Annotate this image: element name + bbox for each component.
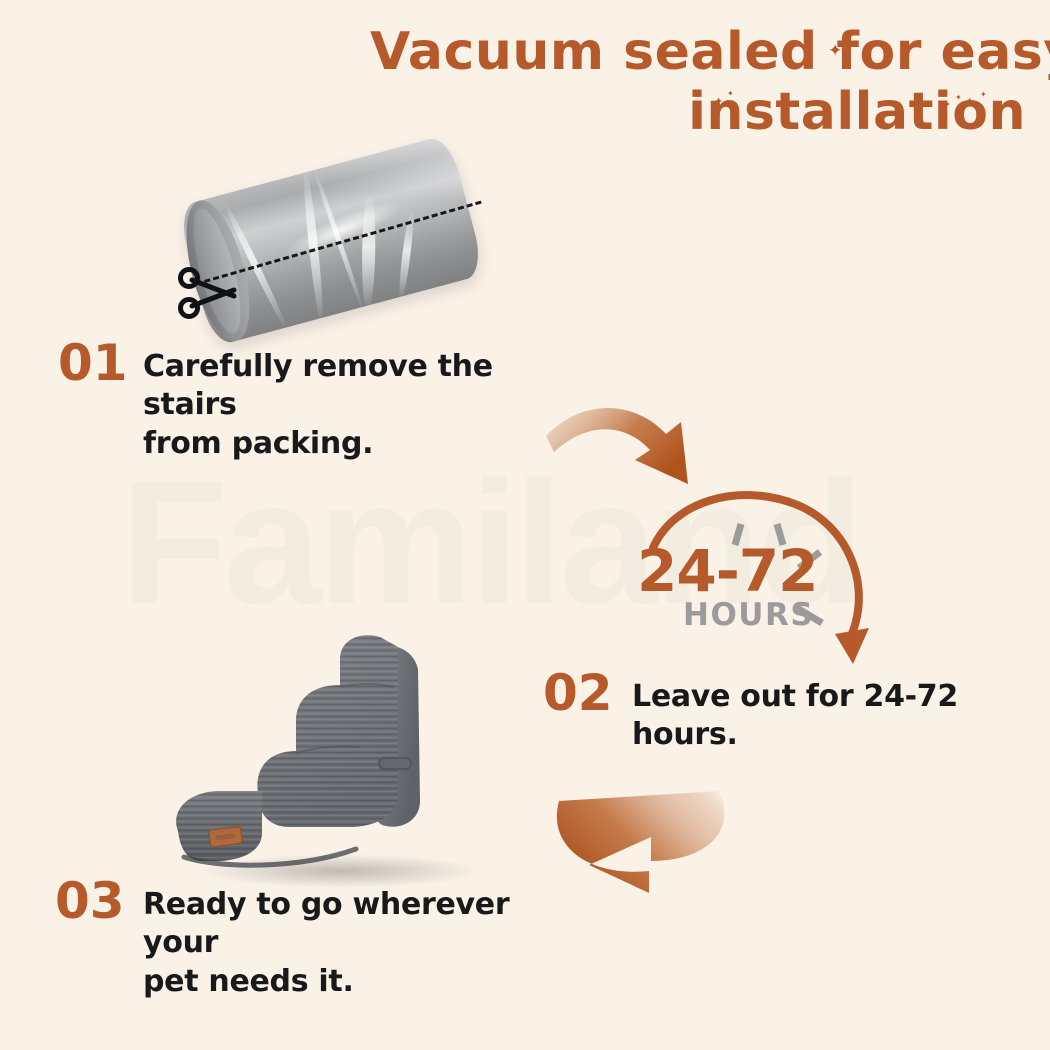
product-shadow xyxy=(200,854,480,888)
page-title: Vacuum sealed for easy installation xyxy=(370,22,1030,143)
clock-unit-label: HOURS xyxy=(683,600,814,631)
step-number-02: 02 xyxy=(543,668,613,718)
step-text-01-line1: Carefully remove the stairs xyxy=(143,348,583,425)
pet-stairs-illustration xyxy=(150,625,510,890)
step-text-02-line1: Leave out for 24-72 hours. xyxy=(632,678,1050,755)
sparkle-icon: ✦ xyxy=(965,97,974,108)
sparkle-icon: ✦ xyxy=(980,91,987,99)
step-text-03: Ready to go wherever your pet needs it. xyxy=(143,886,583,1001)
step-number-01: 01 xyxy=(58,338,128,388)
step-number-03: 03 xyxy=(55,876,125,926)
sparkle-icon: ✦ xyxy=(714,97,723,108)
step-text-02: Leave out for 24-72 hours. xyxy=(632,678,1050,755)
sparkle-icon: ✦ xyxy=(727,90,734,98)
step-text-01: Carefully remove the stairs from packing… xyxy=(143,348,583,463)
step-text-03-line1: Ready to go wherever your xyxy=(143,886,583,963)
sparkle-icon: ✦ xyxy=(828,42,842,59)
sparkle-icon: ✦ xyxy=(844,36,851,44)
brand-tag xyxy=(209,826,243,847)
scissors-icon xyxy=(178,262,240,324)
step-text-03-line2: pet needs it. xyxy=(143,963,583,1001)
clock-duration-label: 24-72 xyxy=(637,542,818,600)
title-line-1: Vacuum sealed for easy xyxy=(370,22,1030,82)
clock-timer-illustration: 24-72 HOURS xyxy=(625,488,895,673)
corduroy-texture xyxy=(176,791,262,861)
carry-handle-slot xyxy=(378,757,412,770)
infographic-canvas: Familand Vacuum sealed for easy installa… xyxy=(0,0,1050,1050)
sparkle-icon: ✦ xyxy=(955,94,962,102)
corduroy-texture xyxy=(257,635,398,827)
sparkle-icon: ✦ xyxy=(942,100,951,111)
title-line-2: installation xyxy=(370,82,1030,142)
step-text-01-line2: from packing. xyxy=(143,425,583,463)
